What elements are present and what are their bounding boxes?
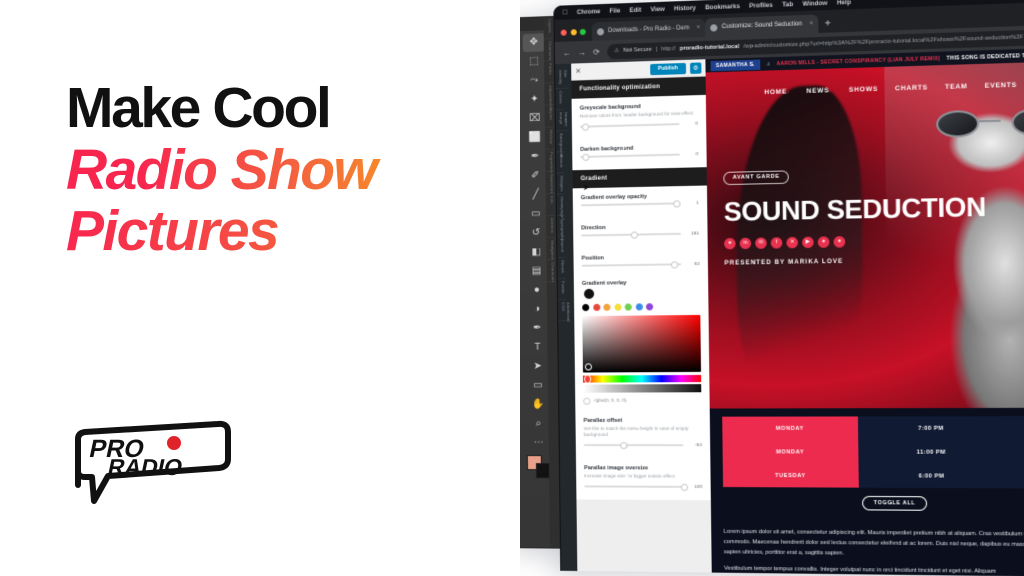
- body-paragraph: Lorem ipsum dolor sit amet, consectetur …: [724, 528, 1024, 562]
- slider-row[interactable]: 1: [581, 201, 699, 216]
- control-description: Remove colors from header background for…: [580, 110, 698, 120]
- slider-value: 1: [685, 201, 699, 206]
- nav-item-events[interactable]: EVENTS: [985, 82, 1017, 90]
- screenshot-mockup: ✥⬚⤳✦⌧⬜✒✐╱▭↺◧▤●◑✒T➤▭✋⌕⋯ LayersChannelsPat…: [497, 0, 1024, 576]
- slider-knob[interactable]: [582, 153, 589, 160]
- customizer-rail-item[interactable]: Homepage: [557, 195, 565, 216]
- social-icon-7[interactable]: ●: [818, 236, 830, 248]
- url-path: /wp-admin/customize.php?url=http%3A%2F%2…: [743, 34, 1023, 50]
- menu-item-edit[interactable]: Edit: [629, 6, 641, 14]
- nav-item-team[interactable]: TEAM: [945, 83, 968, 91]
- customizer-rail-item[interactable]: Layout: [557, 237, 565, 258]
- body-paragraph: Vestibulum tempor tempus convallis. Inte…: [724, 565, 1024, 576]
- schedule-row-day[interactable]: MONDAY: [722, 416, 858, 440]
- history-brush-icon[interactable]: ↺: [525, 224, 547, 242]
- move-icon[interactable]: ✥: [523, 33, 545, 52]
- nav-item-shows[interactable]: SHOWS: [849, 86, 878, 94]
- chevron-down-icon: ›: [829, 88, 832, 94]
- show-description: Lorem ipsum dolor sit amet, consectetur …: [711, 520, 1024, 576]
- slider-row[interactable]: 0: [580, 152, 698, 168]
- customizer-area: Site IdentityColorsHeader ImageBackgroun…: [555, 47, 1024, 576]
- control-direction[interactable]: Direction 181: [573, 216, 708, 249]
- slider-track[interactable]: [580, 123, 680, 128]
- new-tab-button[interactable]: +: [818, 18, 837, 33]
- customizer-rail-item[interactable]: Site Identity: [555, 68, 568, 90]
- schedule-row-time[interactable]: 11:00 PM→: [858, 440, 1024, 464]
- customizer-panel[interactable]: ✕ Publish ⚙ Functionality optimization G…: [571, 59, 712, 572]
- customizer-rail-item[interactable]: Background: [556, 131, 564, 152]
- social-icon-8[interactable]: ●: [834, 236, 846, 248]
- control-parallax-offset[interactable]: Parallax offset Set this to match the me…: [575, 410, 710, 458]
- magic-wand-icon[interactable]: ✦: [523, 91, 545, 110]
- show-schedule: MONDAYMONDAYTUESDAY 7:00 PM→11:00 PM→6:0…: [710, 408, 1024, 523]
- close-icon[interactable]: ✕: [575, 67, 581, 75]
- photoshop-panel-tab[interactable]: Navigator: [546, 238, 555, 260]
- schedule-day: MONDAY: [723, 449, 859, 455]
- slider-value: 92: [685, 262, 699, 267]
- slider-value: 0: [684, 121, 698, 126]
- menu-item-profiles[interactable]: Profiles: [749, 1, 773, 9]
- logo-dot: [167, 436, 181, 450]
- rgba-value-text: rgba(0, 0, 0, 0): [594, 398, 626, 403]
- forward-icon[interactable]: →: [578, 47, 586, 56]
- social-icon-3[interactable]: ✉: [755, 237, 767, 248]
- maximize-window-button[interactable]: [580, 29, 586, 35]
- show-title: SOUND SEDUCTION: [724, 190, 986, 227]
- customizer-rail-item[interactable]: Menus: [556, 152, 564, 173]
- slider-value: 0: [684, 152, 698, 157]
- photoshop-panel-tab[interactable]: Swatches: [545, 172, 554, 194]
- control-parallax-image-oversize[interactable]: Parallax image oversize Increase image s…: [576, 458, 711, 500]
- lasso-icon[interactable]: ⤳: [523, 71, 545, 90]
- apple-logo-icon[interactable]: : [562, 9, 567, 16]
- nav-item-label: NEWS: [806, 87, 829, 95]
- hand-icon[interactable]: ✋: [527, 396, 549, 414]
- menu-item-help[interactable]: Help: [837, 0, 851, 6]
- photoshop-panel-tab[interactable]: Adjustments: [544, 83, 553, 105]
- mouse-cursor-icon: ➤: [583, 182, 591, 193]
- slider-track[interactable]: [584, 445, 684, 447]
- color-swatch[interactable]: [646, 303, 653, 310]
- slider-track[interactable]: [582, 263, 682, 266]
- pen-icon[interactable]: ✒: [526, 319, 548, 337]
- headline-line-1: Make Cool: [66, 78, 496, 140]
- photoshop-color-swatches[interactable]: [527, 455, 551, 477]
- blur-icon[interactable]: ●: [526, 281, 548, 299]
- social-icon-6[interactable]: ▶: [802, 236, 814, 247]
- color-swatch[interactable]: [582, 304, 589, 311]
- eyedropper-icon[interactable]: ✒: [524, 148, 546, 167]
- social-icon-4[interactable]: f: [771, 237, 783, 248]
- on-air-host-badge: SAMANTHA S.: [711, 59, 761, 71]
- color-swatch[interactable]: [614, 303, 621, 310]
- browser-tab[interactable]: Customize: Sound Seduction×: [705, 14, 818, 36]
- control-darken-background[interactable]: Darken background 0: [572, 136, 707, 170]
- publish-button[interactable]: Publish: [650, 62, 686, 74]
- url-separator: |: [656, 47, 658, 53]
- chrome-window:  ChromeFileEditViewHistoryBookmarksProf…: [553, 0, 1024, 576]
- slider-row[interactable]: 100: [584, 484, 702, 498]
- menu-item-window[interactable]: Window: [803, 0, 828, 7]
- headline-block: Make Cool Radio Show Pictures: [66, 78, 496, 263]
- close-window-button[interactable]: [561, 30, 567, 36]
- schedule-row-day[interactable]: MONDAY: [722, 440, 858, 464]
- schedule-time: 7:00 PM: [858, 425, 1005, 431]
- slider-value: -94: [688, 443, 702, 448]
- schedule-times-column: 7:00 PM→11:00 PM→6:00 PM→: [858, 416, 1024, 488]
- sunglasses-left-lens: [936, 110, 979, 138]
- photoshop-panel-tab[interactable]: Properties: [545, 150, 554, 172]
- current-color-dot[interactable]: [584, 288, 594, 298]
- browser-tab[interactable]: Downloads - Pro Radio - Dem×: [592, 19, 706, 41]
- dodge-icon[interactable]: ◑: [526, 300, 548, 318]
- slider-track[interactable]: [581, 202, 681, 206]
- slider-knob[interactable]: [631, 231, 638, 238]
- nav-item-label: TEAM: [945, 83, 968, 91]
- window-traffic-lights[interactable]: [559, 29, 592, 42]
- menu-item-file[interactable]: File: [609, 7, 620, 14]
- color-chip[interactable]: [583, 397, 590, 404]
- nav-item-label: HOME: [764, 88, 787, 96]
- reload-icon[interactable]: ⟳: [593, 47, 600, 56]
- url-scheme: http://: [661, 46, 675, 53]
- control-gradient-overlay-opacity[interactable]: Gradient overlay opacity 1: [573, 185, 708, 218]
- toggle-all-button[interactable]: TOGGLE ALL: [862, 496, 927, 511]
- menu-item-tab[interactable]: Tab: [782, 0, 793, 8]
- schedule-arrow-icon[interactable]: →: [1005, 449, 1024, 456]
- sunglasses-bridge: [979, 120, 1001, 123]
- menu-item-history[interactable]: History: [674, 4, 696, 12]
- tab-favicon-icon: [710, 24, 717, 31]
- photoshop-panel-tab[interactable]: Layers: [543, 17, 552, 39]
- path-selection-icon[interactable]: ➤: [527, 358, 549, 376]
- hue-slider[interactable]: [583, 375, 701, 383]
- schedule-day: MONDAY: [722, 425, 858, 431]
- control-label: Position: [582, 253, 700, 261]
- schedule-days-column: MONDAYMONDAYTUESDAY: [722, 416, 859, 487]
- color-swatch[interactable]: [625, 303, 632, 310]
- slider-knob[interactable]: [620, 442, 627, 449]
- tab-title: Customize: Sound Seduction: [722, 21, 802, 30]
- menu-item-chrome[interactable]: Chrome: [577, 8, 601, 16]
- photoshop-panel-tab[interactable]: Info: [546, 194, 555, 216]
- hero-banner: HOME›NEWS›SHOWSCHARTSTEAMEVENTS AVANT GA…: [706, 61, 1024, 409]
- control-position[interactable]: Position 92: [573, 246, 708, 278]
- tab-close-icon[interactable]: ×: [696, 25, 700, 31]
- pro-radio-logo: PRO RADIO: [68, 415, 248, 507]
- customizer-rail-item[interactable]: Typography: [557, 216, 565, 237]
- slider-knob[interactable]: [681, 483, 688, 490]
- control-greyscale-background[interactable]: Greyscale background Remove colors from …: [572, 95, 707, 140]
- photoshop-panel-tab[interactable]: Character: [546, 260, 555, 282]
- sunglasses-icon: [930, 108, 1024, 139]
- slider-value: 181: [685, 231, 699, 236]
- saturation-value-field[interactable]: [582, 315, 701, 373]
- marquee-icon[interactable]: ⬚: [523, 52, 545, 71]
- rgba-value-row[interactable]: rgba(0, 0, 0, 0): [583, 397, 701, 404]
- eraser-icon[interactable]: ◧: [525, 243, 547, 261]
- header-spacer: [585, 69, 645, 71]
- gradient-icon[interactable]: ▤: [525, 262, 547, 280]
- control-label: Parallax offset: [584, 417, 702, 423]
- schedule-time: 6:00 PM: [859, 473, 1006, 480]
- slider-row[interactable]: 0: [580, 121, 698, 137]
- control-label: Parallax image oversize: [584, 465, 702, 471]
- slider-row[interactable]: 92: [582, 262, 700, 277]
- slider-row[interactable]: 181: [581, 231, 699, 246]
- gradient-overlay-color-picker[interactable]: Gradient overlay ➤ rgba(0, 0, 0, 0): [574, 277, 710, 411]
- color-swatch[interactable]: [603, 303, 610, 310]
- brush-icon[interactable]: ╱: [525, 186, 547, 205]
- color-swatch[interactable]: [635, 303, 642, 310]
- alpha-slider[interactable]: [583, 384, 701, 393]
- schedule-row-day[interactable]: TUESDAY: [723, 464, 859, 488]
- photoshop-panel-tab[interactable]: History: [545, 127, 554, 149]
- schedule-arrow-icon[interactable]: →: [1005, 425, 1024, 432]
- customizer-rail-item[interactable]: Shows: [557, 258, 565, 279]
- headline-line-3: Pictures: [66, 201, 496, 263]
- photoshop-panel-tab[interactable]: Actions: [546, 216, 555, 238]
- headline-line-2: Radio Show: [66, 140, 496, 202]
- social-links-row[interactable]: ●in✉f✕▶●●: [724, 233, 986, 249]
- menu-item-bookmarks[interactable]: Bookmarks: [705, 2, 740, 10]
- frame-icon[interactable]: ⬜: [524, 129, 546, 148]
- slider-track[interactable]: [581, 233, 681, 237]
- nav-item-charts[interactable]: CHARTS: [895, 84, 928, 92]
- customizer-rail-item[interactable]: Footer: [558, 279, 566, 300]
- schedule-row-time[interactable]: 7:00 PM→: [858, 416, 1024, 440]
- photoshop-panel-tab[interactable]: Channels: [544, 39, 553, 61]
- slider-row[interactable]: -94: [584, 443, 702, 456]
- type-icon[interactable]: T: [526, 339, 548, 357]
- customizer-rail-item[interactable]: Widgets: [556, 173, 564, 194]
- svg-text:RADIO: RADIO: [106, 454, 186, 480]
- control-label: Gradient overlay opacity: [581, 192, 699, 201]
- hue-knob[interactable]: [584, 374, 591, 383]
- tab-close-icon[interactable]: ×: [809, 21, 813, 27]
- schedule-table: MONDAYMONDAYTUESDAY 7:00 PM→11:00 PM→6:0…: [722, 416, 1024, 488]
- control-description: Set this to match the menu height in cas…: [584, 426, 702, 440]
- nav-item-label: CHARTS: [895, 84, 928, 92]
- social-icon-1[interactable]: ●: [724, 237, 736, 248]
- nav-item-home[interactable]: HOME›: [764, 88, 789, 96]
- social-icon-2[interactable]: in: [740, 237, 752, 248]
- tab-favicon-icon: [597, 28, 604, 35]
- customizer-rail-item[interactable]: Additional CSS: [558, 300, 571, 321]
- schedule-time: 11:00 PM: [858, 449, 1005, 455]
- sunglasses-right-lens: [1011, 108, 1024, 136]
- control-description: Increase image size for bigger motion ef…: [584, 473, 702, 480]
- schedule-arrow-icon[interactable]: →: [1005, 473, 1024, 481]
- zoom-icon[interactable]: ⌕: [527, 415, 549, 433]
- sv-dark: [582, 315, 701, 373]
- customizer-live-preview[interactable]: SAMANTHA S. ♫ AARON MILLS - SECRET CONSP…: [705, 47, 1024, 576]
- clone-stamp-icon[interactable]: ▭: [525, 205, 547, 223]
- photoshop-panel-tab[interactable]: Styles: [545, 105, 554, 127]
- gear-icon[interactable]: ⚙: [690, 62, 701, 74]
- minimize-window-button[interactable]: [570, 29, 576, 35]
- color-swatch[interactable]: [593, 303, 600, 310]
- music-note-icon: ♫: [766, 61, 770, 67]
- rectangle-icon[interactable]: ▭: [527, 377, 549, 395]
- crop-icon[interactable]: ⌧: [524, 110, 546, 129]
- slider-knob[interactable]: [673, 200, 680, 207]
- social-icon-5[interactable]: ✕: [786, 236, 798, 247]
- hero-copy-block: AVANT GARDE SOUND SEDUCTION ●in✉f✕▶●● PR…: [723, 160, 986, 266]
- not-secure-label: Not Secure: [623, 47, 652, 54]
- url-host: proradio-tutorial.local: [680, 44, 740, 52]
- promo-panel: Make Cool Radio Show Pictures PRO RADIO: [0, 0, 520, 576]
- toggle-all-wrap: TOGGLE ALL: [723, 487, 1024, 516]
- healing-brush-icon[interactable]: ✐: [524, 167, 546, 186]
- control-label: Direction: [581, 223, 699, 231]
- customizer-rail-item[interactable]: Header Image: [556, 110, 569, 131]
- genre-badge[interactable]: AVANT GARDE: [723, 170, 789, 185]
- dedication-text: THIS SONG IS DEDICATED TO MY: [947, 52, 1024, 61]
- nav-item-label: EVENTS: [985, 82, 1017, 90]
- color-picker-label: Gradient overlay: [582, 279, 700, 287]
- schedule-row-time[interactable]: 6:00 PM→: [859, 464, 1024, 489]
- slider-knob[interactable]: [671, 261, 678, 268]
- slider-track[interactable]: [584, 486, 684, 488]
- color-swatch-row[interactable]: [582, 302, 700, 310]
- nav-item-news[interactable]: NEWS›: [806, 87, 832, 95]
- menu-item-view[interactable]: View: [650, 5, 664, 13]
- chevron-down-icon: ›: [787, 89, 790, 95]
- more-tools-icon[interactable]: ⋯: [528, 434, 550, 452]
- back-icon[interactable]: ←: [563, 48, 571, 57]
- not-secure-icon: ⚠: [614, 48, 619, 54]
- sv-selector[interactable]: [585, 363, 592, 370]
- nav-item-label: SHOWS: [849, 86, 878, 94]
- slider-knob[interactable]: [582, 123, 589, 130]
- tab-title: Downloads - Pro Radio - Dem: [608, 25, 689, 34]
- schedule-day: TUESDAY: [723, 472, 859, 479]
- photoshop-panel-tab[interactable]: Paths: [544, 61, 553, 83]
- slider-track[interactable]: [580, 154, 680, 158]
- customizer-rail-item[interactable]: Colors: [555, 89, 563, 110]
- slider-value: 100: [688, 484, 702, 489]
